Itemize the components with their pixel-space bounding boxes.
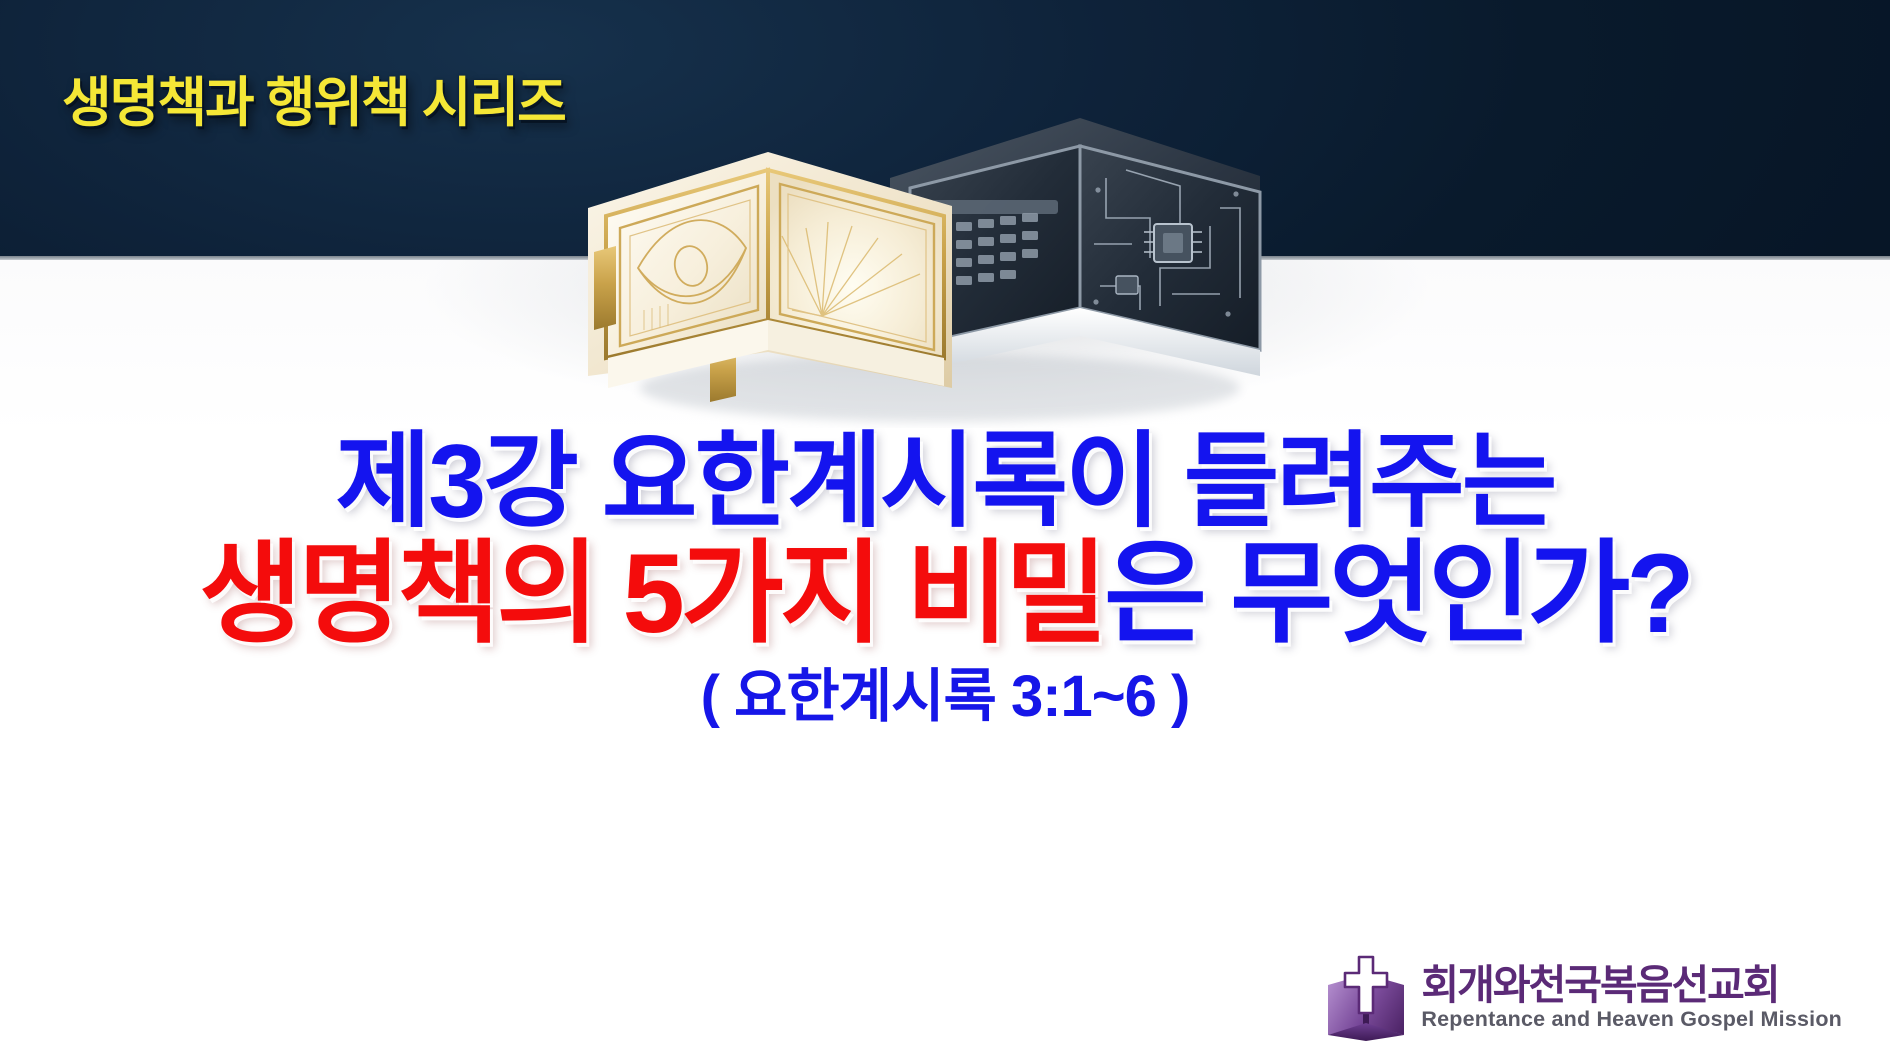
- logo-korean-name: 회개와천국복음선교회: [1421, 964, 1842, 1007]
- headline-line-2-red: 생명책의 5가지 비밀: [199, 531, 1104, 656]
- cross-and-open-book-icon: [1323, 955, 1409, 1041]
- series-title: 생명책과 행위책 시리즈: [62, 58, 565, 137]
- headline-line-2-blue: 은 무엇인가?: [1104, 531, 1691, 656]
- presentation-slide: 생명책과 행위책 시리즈: [0, 0, 1890, 1063]
- headline-line-1: 제3강 요한계시록이 들려주는: [0, 430, 1890, 534]
- logo-text: 회개와천국복음선교회 Repentance and Heaven Gospel …: [1421, 964, 1842, 1032]
- church-logo: 회개와천국복음선교회 Repentance and Heaven Gospel …: [1323, 955, 1842, 1041]
- scripture-reference: ( 요한계시록 3:1~6 ): [0, 668, 1890, 726]
- headline-block: 제3강 요한계시록이 들려주는 생명책의 5가지 비밀은 무엇인가? ( 요한계…: [0, 430, 1890, 726]
- headline-line-2: 생명책의 5가지 비밀은 무엇인가?: [0, 538, 1890, 650]
- two-books-illustration: [560, 58, 1320, 428]
- logo-english-name: Repentance and Heaven Gospel Mission: [1421, 1008, 1842, 1032]
